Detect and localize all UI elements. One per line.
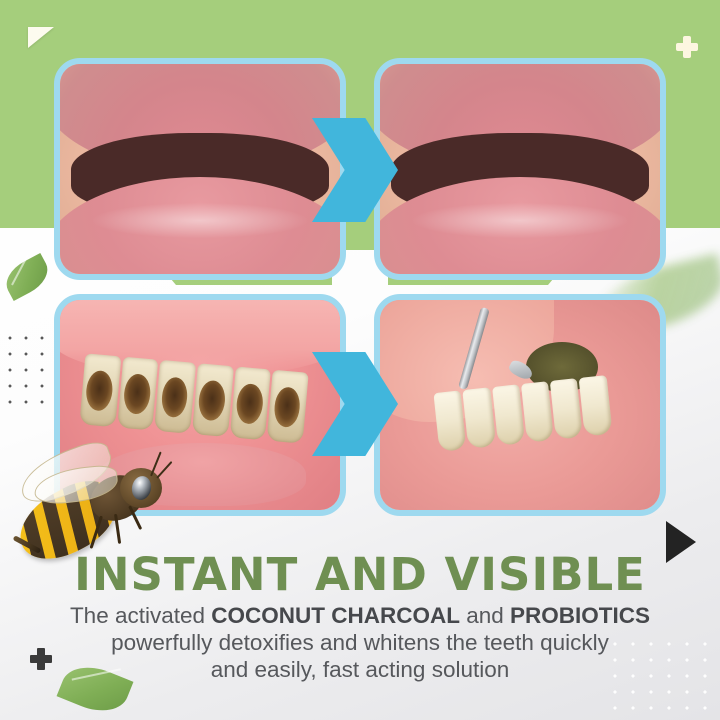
body-copy: The activated COCONUT CHARCOAL and PROBI…	[24, 602, 696, 683]
photo-before-yellow-teeth	[54, 58, 346, 280]
dot-grid-dark	[2, 330, 62, 410]
plus-cream-icon	[676, 36, 698, 58]
photo-after-white-teeth	[374, 58, 666, 280]
triangle-white-icon	[28, 27, 54, 48]
page-title: INSTANT AND VISIBLE	[0, 548, 720, 601]
advertisement-canvas: INSTANT AND VISIBLE The activated COCONU…	[0, 0, 720, 720]
bold-coconut-charcoal: COCONUT CHARCOAL	[211, 603, 460, 628]
body-line-1: The activated COCONUT CHARCOAL and PROBI…	[24, 602, 696, 629]
photo-after-dental-cleaning	[374, 294, 666, 516]
body-line-2: powerfully detoxifies and whitens the te…	[24, 629, 696, 656]
photo-content	[380, 64, 660, 274]
photo-content	[380, 300, 660, 510]
photo-content	[60, 64, 340, 274]
bold-probiotics: PROBIOTICS	[510, 603, 650, 628]
body-line-3: and easily, fast acting solution	[24, 656, 696, 683]
